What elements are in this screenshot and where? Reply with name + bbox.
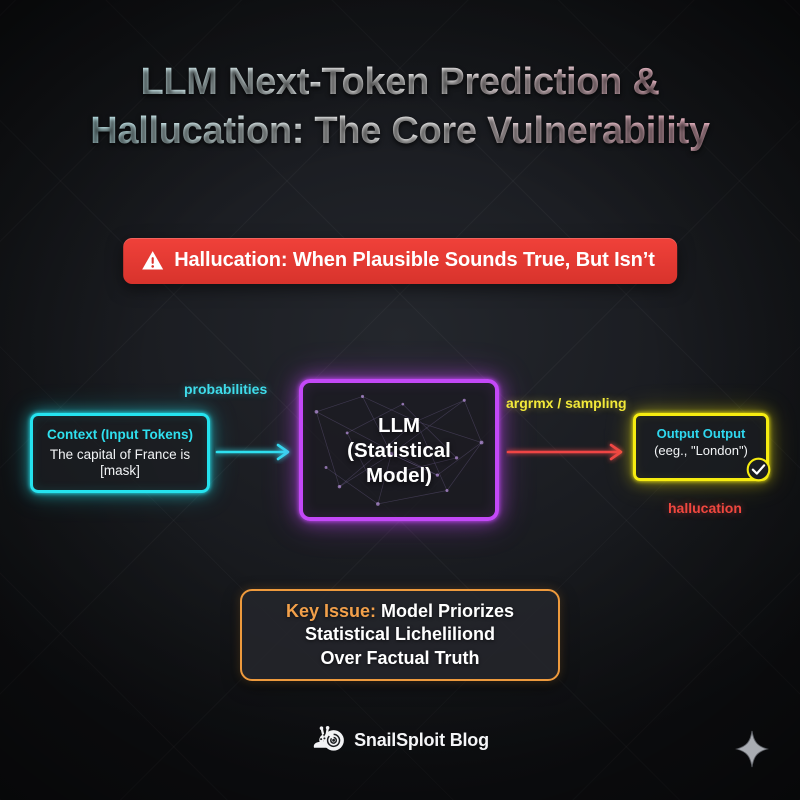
llm-model-box: LLM (Statistical Model) <box>299 379 499 521</box>
context-box-title: Context (Input Tokens) <box>33 427 207 442</box>
arrow-label-probabilities: probabilities <box>184 381 267 397</box>
key-issue-line-3: Over Factual Truth <box>286 647 514 670</box>
key-issue-line-1-rest: Model Priorizes <box>376 601 514 621</box>
key-issue-line-2: Statistical Licheliliond <box>286 623 514 646</box>
key-issue-text: Key Issue: Model Priorizes Statistical L… <box>286 600 514 670</box>
context-box-body: The capital of France is [mask] <box>33 447 207 480</box>
key-issue-line-1: Key Issue: Model Priorizes <box>286 600 514 623</box>
output-box-title: Output Output <box>636 426 766 441</box>
arrow-llm-to-output <box>506 440 630 464</box>
brand-name: SnailSploit Blog <box>354 730 489 751</box>
context-input-box: Context (Input Tokens) The capital of Fr… <box>30 413 210 493</box>
output-box: Output Output (eeg., "London") <box>633 413 769 481</box>
sparkle-icon <box>735 730 769 773</box>
llm-label-line-2: (Statistical <box>303 438 495 463</box>
arrow-label-argmax-sampling: argrmx / sampling <box>506 395 627 411</box>
llm-label-line-3: Model) <box>303 463 495 488</box>
key-issue-prefix: Key Issue: <box>286 601 376 621</box>
footer-brand: SnailSploit Blog <box>0 724 800 757</box>
snail-logo-icon <box>311 724 345 757</box>
arrow-context-to-llm <box>215 440 297 464</box>
key-issue-box: Key Issue: Model Priorizes Statistical L… <box>240 589 560 681</box>
llm-box-label: LLM (Statistical Model) <box>303 413 495 488</box>
check-circle-icon <box>745 456 772 488</box>
hallucination-caption: hallucation <box>668 500 742 516</box>
llm-label-line-1: LLM <box>303 413 495 438</box>
